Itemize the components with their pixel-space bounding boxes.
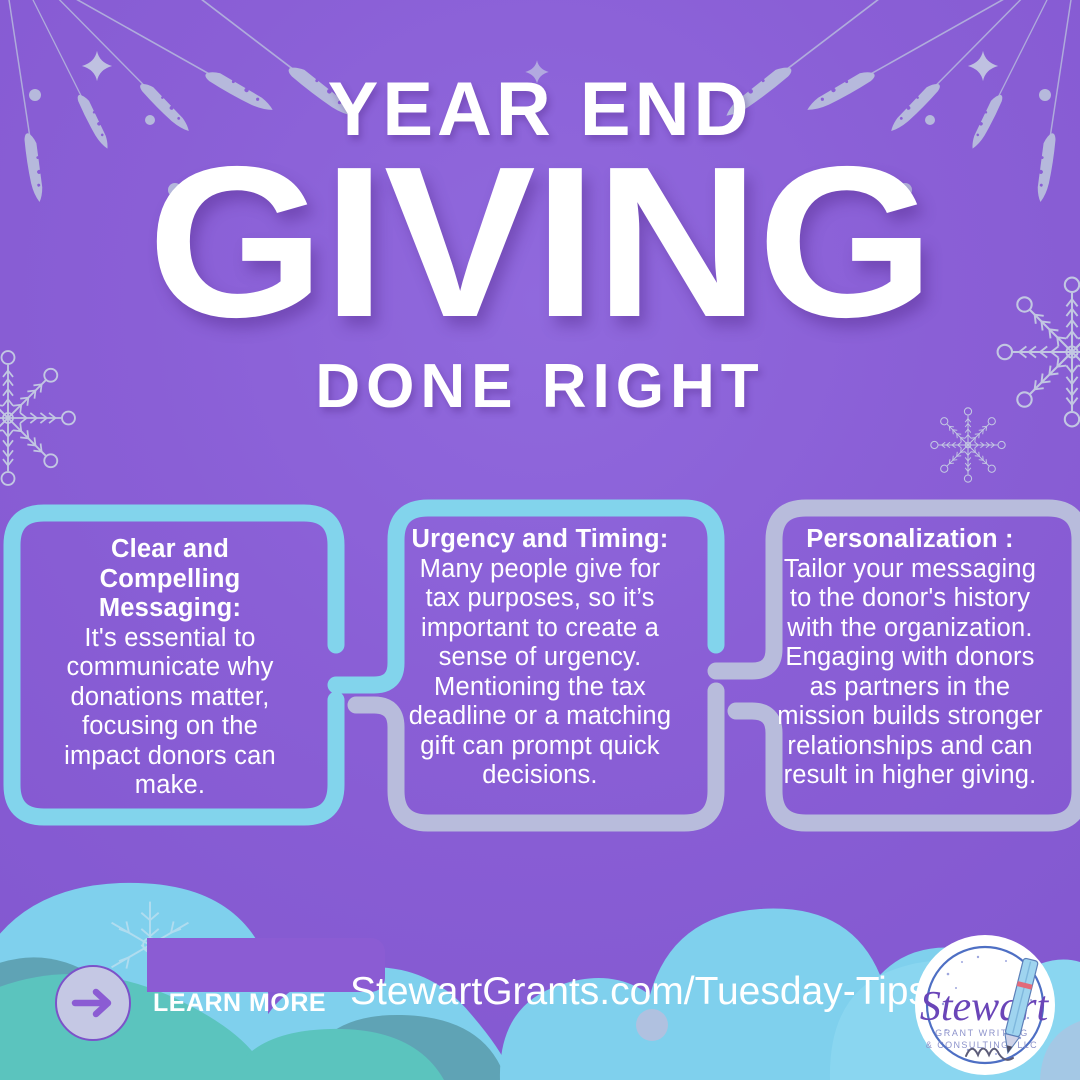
card-1-body: It's essential to communicate why donati… (44, 624, 296, 801)
card-2-body: Many people give for tax purposes, so it… (404, 555, 676, 791)
card-clear-and-compelling-messaging[interactable]: Clear and Compelling Messaging: It's ess… (26, 517, 314, 807)
learn-more-circle[interactable] (55, 965, 131, 1041)
headline-line-2: GIVING (0, 142, 1080, 342)
card-urgency-and-timing[interactable]: Urgency and Timing: Many people give for… (386, 507, 694, 812)
learn-more-cta[interactable]: LEARN MORE (55, 965, 326, 1041)
stewart-grants-logo[interactable]: Stewart GRANT WRITING & CONSULTING, LLC (910, 930, 1060, 1080)
card-1-heading: Clear and Compelling Messaging: (44, 535, 296, 624)
tips-card-group: Clear and Compelling Messaging: It's ess… (0, 505, 1080, 835)
card-3-heading: Personalization : (774, 525, 1046, 555)
poster-canvas: YEAR END GIVING DONE RIGHT (0, 0, 1080, 1080)
arrow-right-icon (71, 986, 115, 1020)
headline-block: YEAR END GIVING DONE RIGHT (0, 72, 1080, 418)
website-url[interactable]: StewartGrants.com/Tuesday-Tips (350, 970, 928, 1014)
headline-line-3: DONE RIGHT (0, 356, 1080, 418)
card-2-heading: Urgency and Timing: (404, 525, 676, 555)
learn-more-label: LEARN MORE (153, 989, 326, 1018)
card-personalization[interactable]: Personalization : Tailor your messaging … (756, 507, 1064, 812)
snowflake-icon-right-small (931, 408, 1005, 482)
card-3-body: Tailor your messaging to the donor's his… (774, 555, 1046, 791)
